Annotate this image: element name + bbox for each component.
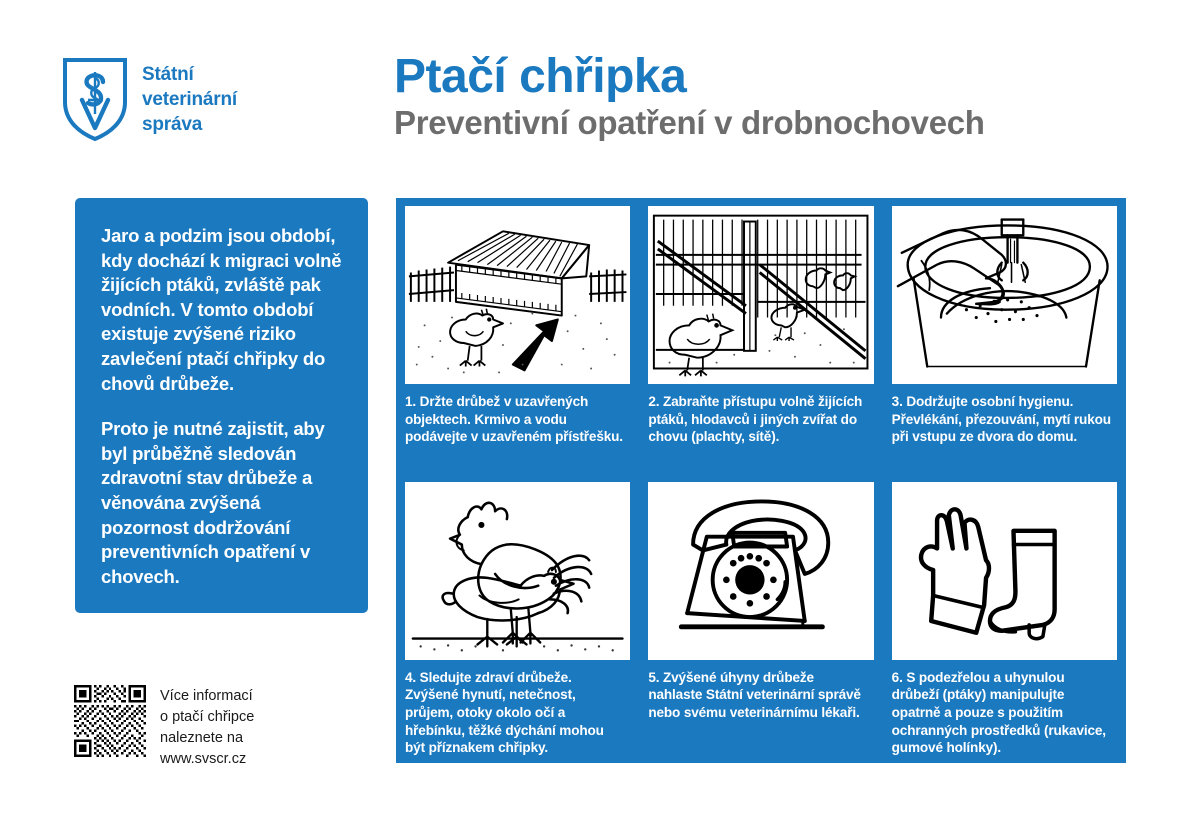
intro-paragraph-2: Proto je nutné zajistit, aby byl průběžn…: [101, 417, 344, 589]
qr-code-icon: [74, 685, 146, 757]
poster-root: Státní veterinární správa Ptačí chřipka …: [0, 0, 1200, 830]
panel-step-3: 3. Dodržujte osobní hygienu. Převlékání,…: [883, 198, 1126, 474]
coop-barn-with-fence-and-chicken-icon: [405, 206, 630, 384]
prevention-steps-grid: 1. Držte drůbež v uzavřených objektech. …: [396, 198, 1126, 763]
footer-line-4: www.svscr.cz: [160, 749, 254, 770]
glove-and-rubber-boot-icon: [892, 482, 1117, 660]
fenced-netted-enclosure-with-birds-icon: [648, 206, 873, 384]
page-title: Ptačí chřipka: [394, 52, 1134, 103]
org-name-line-3: správa: [142, 112, 237, 137]
footer-info: Více informací o ptačí chřipce naleznete…: [74, 685, 254, 770]
panel-caption-6: 6. S podezřelou a uhynulou drůbeží (pták…: [892, 669, 1117, 757]
header-titles: Ptačí chřipka Preventivní opatření v dro…: [394, 52, 1134, 142]
organization-name: Státní veterinární správa: [142, 56, 237, 137]
footer-line-1: Více informací: [160, 686, 254, 707]
organization-logo: Státní veterinární správa: [62, 56, 237, 142]
panel-caption-1: 1. Držte drůbež v uzavřených objektech. …: [405, 393, 630, 446]
panel-caption-5: 5. Zvýšené úhyny drůbeže nahlaste Státní…: [648, 669, 873, 722]
rotary-telephone-icon: [648, 482, 873, 660]
footer-line-2: o ptačí chřipce: [160, 707, 254, 728]
rooster-and-hen-icon: [405, 482, 630, 660]
org-name-line-1: Státní: [142, 62, 237, 87]
footer-text: Více informací o ptačí chřipce naleznete…: [160, 685, 254, 770]
panel-step-4: 4. Sledujte zdraví drůbeže. Zvýšené hynu…: [396, 474, 639, 763]
page-subtitle: Preventivní opatření v drobnochovech: [394, 105, 1134, 142]
veterinary-shield-asclepius-icon: [62, 56, 128, 142]
intro-paragraph-1: Jaro a podzim jsou období, kdy dochází k…: [101, 224, 344, 396]
panel-caption-2: 2. Zabraňte přístupu volně žijících pták…: [648, 393, 873, 446]
panel-step-1: 1. Držte drůbež v uzavřených objektech. …: [396, 198, 639, 474]
footer-line-3: naleznete na: [160, 728, 254, 749]
panel-step-5: 5. Zvýšené úhyny drůbeže nahlaste Státní…: [639, 474, 882, 763]
hand-washing-under-tap-icon: [892, 206, 1117, 384]
panel-caption-3: 3. Dodržujte osobní hygienu. Převlékání,…: [892, 393, 1117, 446]
org-name-line-2: veterinární: [142, 87, 237, 112]
panel-caption-4: 4. Sledujte zdraví drůbeže. Zvýšené hynu…: [405, 669, 630, 757]
intro-panel: Jaro a podzim jsou období, kdy dochází k…: [75, 198, 368, 613]
panel-step-2: 2. Zabraňte přístupu volně žijících pták…: [639, 198, 882, 474]
panel-step-6: 6. S podezřelou a uhynulou drůbeží (pták…: [883, 474, 1126, 763]
